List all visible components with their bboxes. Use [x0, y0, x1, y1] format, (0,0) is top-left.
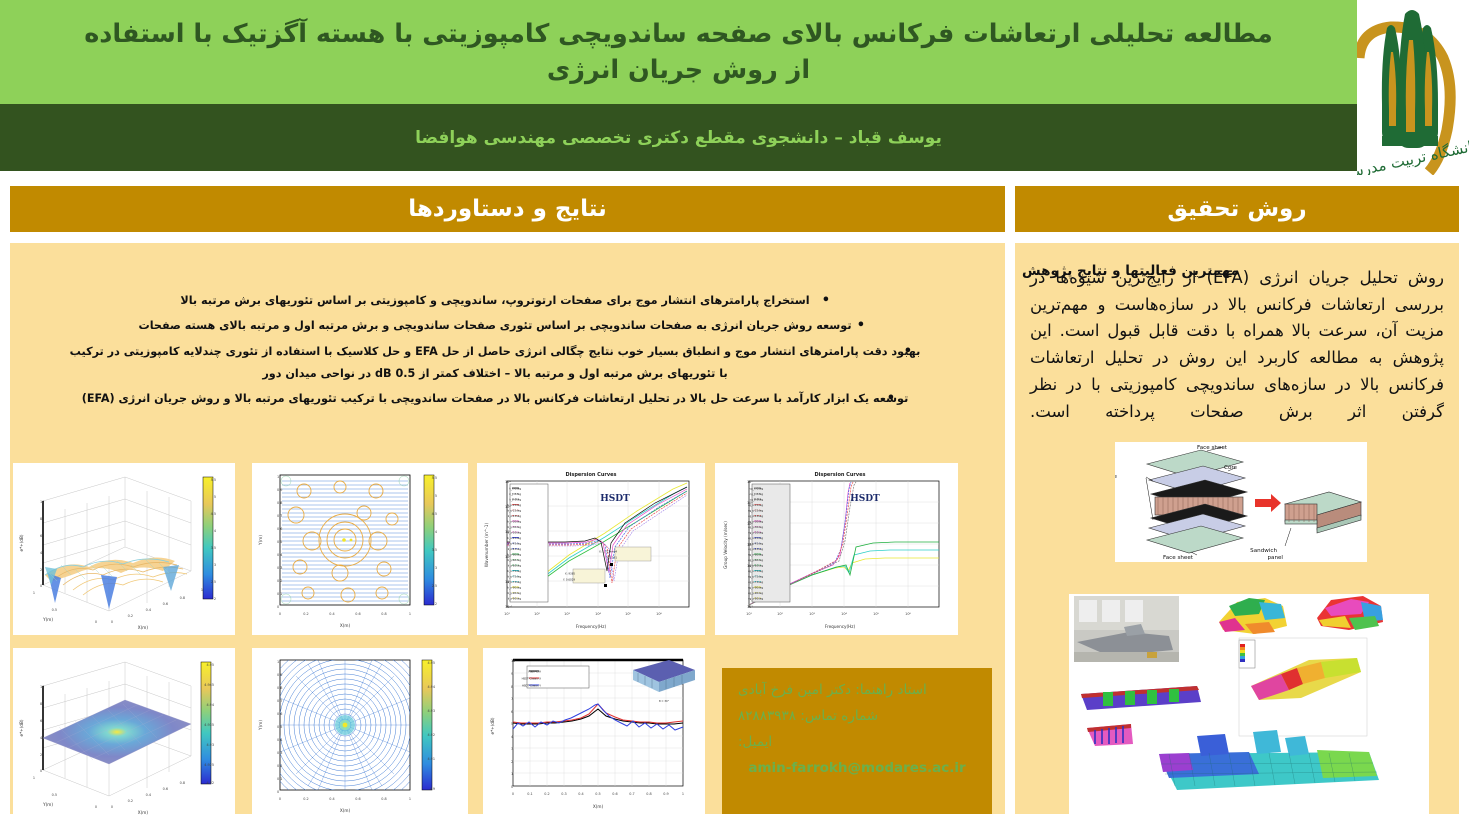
svg-text:k_z-90deg: k_z-90deg: [508, 596, 522, 600]
svg-text:6: 6: [40, 534, 42, 538]
svg-text:3.5: 3.5: [211, 546, 216, 550]
svg-text:0.9: 0.9: [663, 792, 668, 796]
bullet-text: توسعه یک ابزار کارآمد با سرعت حل بالا در…: [82, 392, 909, 405]
svg-text:2: 2: [40, 753, 42, 757]
svg-text:0.8: 0.8: [277, 501, 282, 505]
svg-text:8: 8: [40, 702, 42, 706]
chart-legend: cg_x-0deg cg_y-0deg cg_z-0deg cg_x-15deg…: [748, 484, 790, 602]
svg-text:4: 4: [511, 735, 513, 739]
svg-text:0.6: 0.6: [163, 787, 168, 791]
label-face-sheet-top: Face sheet: [1197, 445, 1228, 451]
svg-text:10²: 10²: [777, 612, 783, 616]
colorbar: [422, 660, 432, 790]
svg-text:Y: 0.6029: Y: 0.6029: [563, 578, 575, 582]
svg-text:10⁴: 10⁴: [747, 543, 753, 547]
svg-text:k_x-90deg: k_x-90deg: [508, 585, 522, 589]
contour-efa-svg: 10.90.8 0.70.60.5 0.40.30.2 0.10 00.20.4…: [252, 648, 468, 820]
svg-text:4: 4: [435, 530, 437, 534]
svg-text:k_y-75deg: k_y-75deg: [508, 574, 522, 578]
chart-energy-density-comparison: HSDT-EFA HSDT-Classic-X HSDT-Classic-Y θ…: [483, 648, 705, 820]
chart-surface-efa-3d: 1086 420 10.50 00.20.4 0.60.81 Y(m) X(m)…: [13, 648, 235, 820]
axis-label-y: Y(m): [258, 720, 263, 731]
results-bullet-list: استخراج پارامترهای انتشار موج برای صفحات…: [14, 292, 990, 416]
svg-text:0.7: 0.7: [629, 792, 634, 796]
section-header-method: روش تحقیق: [1015, 186, 1459, 232]
svg-text:4.92: 4.92: [427, 733, 435, 737]
svg-text:0: 0: [512, 792, 514, 796]
svg-text:10: 10: [40, 685, 44, 689]
list-item: بهبود دقت پارامترهای انتشار موج و انطباق…: [14, 343, 990, 383]
svg-text:4.5: 4.5: [432, 512, 437, 516]
svg-text:10⁵: 10⁵: [747, 522, 753, 526]
svg-text:8: 8: [40, 517, 42, 521]
svg-text:2: 2: [511, 760, 513, 764]
svg-text:0.6: 0.6: [277, 527, 282, 531]
section-header-results: نتایج و دستاوردها: [10, 186, 1005, 232]
svg-text:0: 0: [279, 797, 281, 801]
axis-label-z: e*+(dB): [19, 534, 24, 551]
svg-text:k_y-0deg: k_y-0deg: [509, 492, 521, 496]
svg-text:2: 2: [214, 597, 216, 601]
svg-text:0: 0: [279, 612, 281, 616]
svg-text:0: 0: [277, 605, 279, 609]
svg-text:0: 0: [40, 769, 42, 773]
svg-text:0.8: 0.8: [180, 781, 185, 785]
svg-text:10⁷: 10⁷: [747, 480, 753, 484]
svg-text:0: 0: [111, 805, 113, 809]
list-item: استخراج پارامترهای انتشار موج برای صفحات…: [14, 292, 990, 309]
svg-text:4.935: 4.935: [204, 723, 214, 727]
svg-text:cg_y-75deg: cg_y-75deg: [748, 574, 763, 578]
svg-text:cg_x-60deg: cg_x-60deg: [748, 552, 763, 556]
svg-text:10¹: 10¹: [746, 612, 752, 616]
poster-subtitle-band: یوسف قباد – دانشجوی مقطع دکتری تخصصی مهن…: [0, 104, 1357, 171]
svg-text:2.5: 2.5: [211, 580, 216, 584]
svg-text:10¹: 10¹: [505, 555, 511, 559]
inset-label: θ = 30°: [659, 699, 670, 703]
svg-text:0.3: 0.3: [561, 792, 566, 796]
axis-label-y: Y(m): [42, 617, 53, 622]
label-core: Core: [1224, 465, 1238, 471]
contact-supervisor: استاد راهنما: دکتر امین فرخ آبادی: [738, 682, 976, 698]
contour-2d-svg: 10.90.8 0.70.60.5 0.40.30.2 0.10 00.20.4…: [252, 463, 468, 635]
svg-text:panel: panel: [1267, 555, 1283, 561]
contact-info-box: استاد راهنما: دکتر امین فرخ آبادی شماره …: [722, 668, 992, 814]
fe-legend-box: [1239, 640, 1255, 668]
svg-text:0.5: 0.5: [277, 725, 282, 729]
fea-models-collage: [1069, 594, 1429, 814]
chart-annotation-hsdt: HSDT: [850, 494, 880, 504]
chart-surface-energy-3d: 1086 420 10.50 00.20.4 0.60.81 Y(m) X(m)…: [13, 463, 235, 635]
svg-text:1: 1: [33, 591, 35, 595]
svg-text:10³: 10³: [564, 612, 570, 616]
svg-text:0.6: 0.6: [355, 797, 360, 801]
dispersion-k-svg: Dispersion Curves HSDT: [477, 463, 705, 635]
chart-legend: HSDT-EFA HSDT-Classic-X HSDT-Classic-Y: [522, 666, 589, 688]
svg-text:0.2: 0.2: [277, 764, 282, 768]
axis-label-y: Y(m): [258, 535, 263, 546]
svg-text:0.8: 0.8: [180, 596, 185, 600]
svg-text:3.5: 3.5: [432, 548, 437, 552]
svg-text:k_y-90deg: k_y-90deg: [508, 591, 522, 595]
svg-text:7: 7: [511, 697, 513, 701]
bullet-text: توسعه روش جریان انرژی به صفحات ساندویچی …: [138, 319, 851, 332]
svg-text:1: 1: [409, 797, 411, 801]
svg-text:10³: 10³: [747, 564, 753, 568]
university-logo-icon: دانشگاه تربیت مدرس: [1357, 0, 1469, 175]
svg-text:4.9: 4.9: [430, 787, 435, 791]
svg-text:0.2: 0.2: [544, 792, 549, 796]
svg-text:0.8: 0.8: [381, 612, 386, 616]
svg-text:10⁵: 10⁵: [625, 612, 631, 616]
svg-text:0.8: 0.8: [277, 686, 282, 690]
svg-text:0.2: 0.2: [128, 799, 133, 803]
svg-text:0.4: 0.4: [329, 612, 334, 616]
svg-text:0.2: 0.2: [303, 797, 308, 801]
svg-text:4.92: 4.92: [206, 781, 214, 785]
svg-text:10⁵: 10⁵: [873, 612, 879, 616]
svg-text:0.1: 0.1: [527, 792, 532, 796]
svg-text:4.5: 4.5: [211, 512, 216, 516]
svg-text:4.925: 4.925: [204, 763, 214, 767]
svg-text:4.93: 4.93: [206, 743, 214, 747]
svg-text:k_y-45deg: k_y-45deg: [508, 541, 522, 545]
svg-text:0.4: 0.4: [277, 553, 282, 557]
contact-email[interactable]: amin-farrokh@modares.ac.ir: [738, 760, 976, 776]
svg-text:k_x-0deg: k_x-0deg: [509, 486, 521, 490]
svg-text:k_z-0deg: k_z-0deg: [509, 497, 521, 501]
label-face-sheet-bottom: Face sheet: [1163, 555, 1194, 561]
svg-text:2: 2: [40, 568, 42, 572]
axis-label-y: e*+(dB): [490, 717, 495, 734]
fea-svg: [1069, 594, 1429, 814]
svg-text:0.7: 0.7: [277, 514, 282, 518]
svg-text:5: 5: [511, 722, 513, 726]
svg-text:4.94: 4.94: [427, 685, 435, 689]
svg-text:10⁶: 10⁶: [656, 612, 662, 616]
svg-text:0.5: 0.5: [52, 608, 57, 612]
svg-text:k_z-45deg: k_z-45deg: [508, 547, 522, 551]
svg-text:10⁻¹: 10⁻¹: [505, 605, 513, 609]
svg-text:10³: 10³: [809, 612, 815, 616]
svg-text:6: 6: [40, 719, 42, 723]
axis-label-x: X(m): [340, 808, 351, 813]
svg-text:0: 0: [111, 620, 113, 624]
svg-text:0.2: 0.2: [277, 579, 282, 583]
svg-text:4.91: 4.91: [427, 757, 435, 761]
svg-text:k_y-30deg: k_y-30deg: [508, 525, 522, 529]
chart-legend: k_x-0deg k_y-0deg k_z-0deg k_x-15deg k_y…: [508, 484, 548, 602]
svg-text:k_x-75deg: k_x-75deg: [508, 569, 522, 573]
svg-text:10¹: 10¹: [504, 612, 510, 616]
svg-text:5: 5: [435, 494, 437, 498]
contact-email-label: ایمیل:: [738, 734, 976, 750]
svg-text:0.6: 0.6: [612, 792, 617, 796]
chart-contour-energy-2d: 10.90.8 0.70.60.5 0.40.30.2 0.10 00.20.4…: [252, 463, 468, 635]
svg-text:3: 3: [435, 566, 437, 570]
svg-text:10⁴: 10⁴: [595, 612, 601, 616]
svg-text:cg_y-60deg: cg_y-60deg: [748, 558, 763, 562]
sandwich-panel-diagram: Face sheet Core Adhesive Face sheet Sand…: [1115, 442, 1367, 562]
svg-text:cg_y-90deg: cg_y-90deg: [748, 591, 763, 595]
svg-text:5.5: 5.5: [211, 478, 216, 482]
svg-text:10: 10: [511, 659, 515, 663]
svg-text:4.95: 4.95: [206, 663, 214, 667]
poster-root: مطالعه تحلیلی ارتعاشات فرکانس بالای صفحه…: [0, 0, 1469, 824]
svg-text:1: 1: [277, 660, 279, 664]
svg-text:9: 9: [511, 672, 513, 676]
axis-label-x: X(m): [340, 623, 351, 628]
poster-subtitle: یوسف قباد – دانشجوی مقطع دکتری تخصصی مهن…: [415, 128, 942, 148]
svg-text:3: 3: [214, 563, 216, 567]
svg-text:4: 4: [40, 551, 42, 555]
svg-text:10⁰: 10⁰: [505, 580, 511, 584]
method-paragraph: روش تحلیل جریان انرژی (EFA) از رایج‌ترین…: [1030, 265, 1444, 425]
svg-text:5.5: 5.5: [432, 476, 437, 480]
svg-text:cg_x-90deg: cg_x-90deg: [748, 585, 763, 589]
svg-text:cg_y-0deg: cg_y-0deg: [750, 492, 764, 496]
svg-text:0.5: 0.5: [277, 540, 282, 544]
svg-text:0.5: 0.5: [52, 793, 57, 797]
svg-text:0.3: 0.3: [277, 751, 282, 755]
svg-text:0.4: 0.4: [277, 738, 282, 742]
svg-text:6: 6: [511, 710, 513, 714]
svg-text:4.94: 4.94: [206, 703, 214, 707]
page-title: مطالعه تحلیلی ارتعاشات فرکانس بالای صفحه…: [19, 16, 1339, 88]
svg-text:0.1: 0.1: [277, 777, 282, 781]
svg-text:cg_z-15deg: cg_z-15deg: [748, 514, 763, 518]
axis-label-x: X(m): [138, 625, 149, 630]
poster-title-band: مطالعه تحلیلی ارتعاشات فرکانس بالای صفحه…: [0, 0, 1357, 104]
chart-title: Dispersion Curves: [814, 472, 865, 478]
ship-photo: [1074, 596, 1179, 662]
svg-text:0.2: 0.2: [303, 612, 308, 616]
svg-text:cg_z-30deg: cg_z-30deg: [748, 530, 763, 534]
legend-label-0: HSDT-EFA: [528, 669, 541, 673]
svg-text:1: 1: [33, 776, 35, 780]
svg-text:2.5: 2.5: [432, 584, 437, 588]
svg-text:1: 1: [682, 792, 684, 796]
svg-text:10²: 10²: [534, 612, 540, 616]
svg-text:0.5: 0.5: [595, 792, 600, 796]
svg-text:0.6: 0.6: [355, 612, 360, 616]
results-heading: مهمترین فعالیتها و نتایج پژوهش: [679, 263, 1239, 279]
svg-text:0.6: 0.6: [277, 712, 282, 716]
svg-text:1: 1: [511, 772, 513, 776]
svg-text:0.1: 0.1: [277, 592, 282, 596]
svg-text:0.4: 0.4: [578, 792, 583, 796]
bullet-text: استخراج پارامترهای انتشار موج برای صفحات…: [180, 294, 809, 307]
sandwich-svg: Face sheet Core Adhesive Face sheet Sand…: [1115, 442, 1367, 562]
svg-text:0.8: 0.8: [646, 792, 651, 796]
svg-text:X: 1.711e+04: X: 1.711e+04: [599, 550, 617, 554]
svg-text:cg_x-75deg: cg_x-75deg: [748, 569, 763, 573]
list-item: توسعه یک ابزار کارآمد با سرعت حل بالا در…: [14, 390, 990, 407]
section-header-method-label: روش تحقیق: [1167, 196, 1306, 222]
svg-text:0.9: 0.9: [277, 673, 282, 677]
chart-dispersion-group-velocity: Dispersion Curves HSDT: [715, 463, 958, 635]
comparison-svg: HSDT-EFA HSDT-Classic-X HSDT-Classic-Y θ…: [483, 648, 705, 820]
svg-text:4: 4: [40, 736, 42, 740]
svg-text:cg_x-0deg: cg_x-0deg: [750, 486, 764, 490]
svg-text:1: 1: [409, 612, 411, 616]
svg-text:1: 1: [201, 588, 203, 592]
svg-text:k_x-45deg: k_x-45deg: [508, 536, 522, 540]
list-item: توسعه روش جریان انرژی به صفحات ساندویچی …: [14, 317, 990, 334]
section-header-results-label: نتایج و دستاوردها: [408, 196, 607, 222]
svg-text:X: 9385: X: 9385: [565, 572, 575, 576]
poster-title-line-1: مطالعه تحلیلی ارتعاشات فرکانس بالای صفحه…: [84, 19, 1273, 49]
svg-text:0.4: 0.4: [146, 793, 151, 797]
svg-text:cg_z-45deg: cg_z-45deg: [748, 547, 763, 551]
label-sandwich-panel: Sandwich: [1250, 548, 1277, 554]
svg-text:0.3: 0.3: [277, 566, 282, 570]
svg-text:cg_x-45deg: cg_x-45deg: [748, 536, 763, 540]
svg-text:1: 1: [277, 475, 279, 479]
svg-text:10⁴: 10⁴: [505, 480, 511, 484]
legend-label-1: HSDT-Classic-X: [522, 676, 542, 680]
svg-text:0: 0: [95, 620, 97, 624]
svg-text:10: 10: [40, 500, 44, 504]
surface-3d-svg: 1086 420 10.50 00.20.4 0.60.81 Y(m) X(m)…: [13, 463, 235, 635]
svg-text:k_x-30deg: k_x-30deg: [508, 519, 522, 523]
svg-text:10⁶: 10⁶: [747, 501, 753, 505]
svg-text:10⁶: 10⁶: [905, 612, 911, 616]
poster-title-line-2: از روش جریان انرژی: [547, 55, 810, 85]
svg-text:4.945: 4.945: [204, 683, 214, 687]
svg-text:0: 0: [95, 805, 97, 809]
chart-title: Dispersion Curves: [565, 472, 616, 478]
chart-dispersion-wavenumber: Dispersion Curves HSDT: [477, 463, 705, 635]
contact-phone: شماره تماس: ۸۲۸۸۳۹۳۸: [738, 708, 976, 724]
chart-contour-efa-2d: 10.90.8 0.70.60.5 0.40.30.2 0.10 00.20.4…: [252, 648, 468, 820]
logo-svg: دانشگاه تربیت مدرس: [1357, 0, 1469, 175]
svg-text:8: 8: [511, 685, 513, 689]
svg-text:k_z-15deg: k_z-15deg: [508, 514, 522, 518]
axis-label-x: Frequency(Hz): [825, 624, 856, 629]
svg-text:10²: 10²: [505, 530, 511, 534]
svg-text:4.93: 4.93: [427, 709, 435, 713]
svg-text:0.6: 0.6: [163, 602, 168, 606]
axis-label-x: X(m): [593, 804, 604, 809]
svg-text:0.7: 0.7: [277, 699, 282, 703]
svg-text:4.95: 4.95: [427, 661, 435, 665]
svg-text:0.9: 0.9: [277, 488, 282, 492]
svg-text:0: 0: [277, 790, 279, 794]
svg-text:k_z-60deg: k_z-60deg: [508, 563, 522, 567]
svg-text:0: 0: [40, 584, 42, 588]
axis-label-x: Frequency(Hz): [576, 624, 607, 629]
axis-label-y: Wavenumber (m^-1): [484, 523, 489, 568]
svg-text:0.2: 0.2: [128, 614, 133, 618]
axis-label-z: e*+(dB): [19, 719, 24, 736]
svg-text:cg_y-15deg: cg_y-15deg: [748, 508, 763, 512]
svg-text:10⁴: 10⁴: [841, 612, 847, 616]
svg-text:Y: 3.191: Y: 3.191: [607, 556, 618, 560]
svg-text:0: 0: [511, 785, 513, 789]
svg-text:4: 4: [214, 529, 216, 533]
axis-label-x: X(m): [138, 810, 149, 815]
svg-text:0.4: 0.4: [146, 608, 151, 612]
surface-efa-svg: 1086 420 10.50 00.20.4 0.60.81 Y(m) X(m)…: [13, 648, 235, 820]
svg-text:5: 5: [214, 495, 216, 499]
svg-text:2: 2: [435, 602, 437, 606]
svg-text:cg_z-90deg: cg_z-90deg: [748, 596, 763, 600]
axis-label-y: Group Velocity (m/sec): [723, 521, 728, 569]
svg-text:cg_z-75deg: cg_z-75deg: [748, 580, 763, 584]
svg-text:0.4: 0.4: [329, 797, 334, 801]
svg-text:3: 3: [511, 747, 513, 751]
svg-text:0.8: 0.8: [381, 797, 386, 801]
legend-label-2: HSDT-Classic-Y: [522, 683, 541, 687]
bullet-text-line2: با تئوریهای برش مرتبه اول و مرتبه بالا –…: [14, 365, 976, 382]
bullet-text: بهبود دقت پارامترهای انتشار موج و انطباق…: [70, 345, 921, 358]
svg-text:10²: 10²: [747, 605, 753, 609]
dispersion-cg-svg: Dispersion Curves HSDT: [715, 463, 958, 635]
axis-label-y: Y(m): [42, 802, 53, 807]
svg-text:10³: 10³: [505, 505, 511, 509]
chart-annotation-hsdt: HSDT: [600, 494, 630, 504]
